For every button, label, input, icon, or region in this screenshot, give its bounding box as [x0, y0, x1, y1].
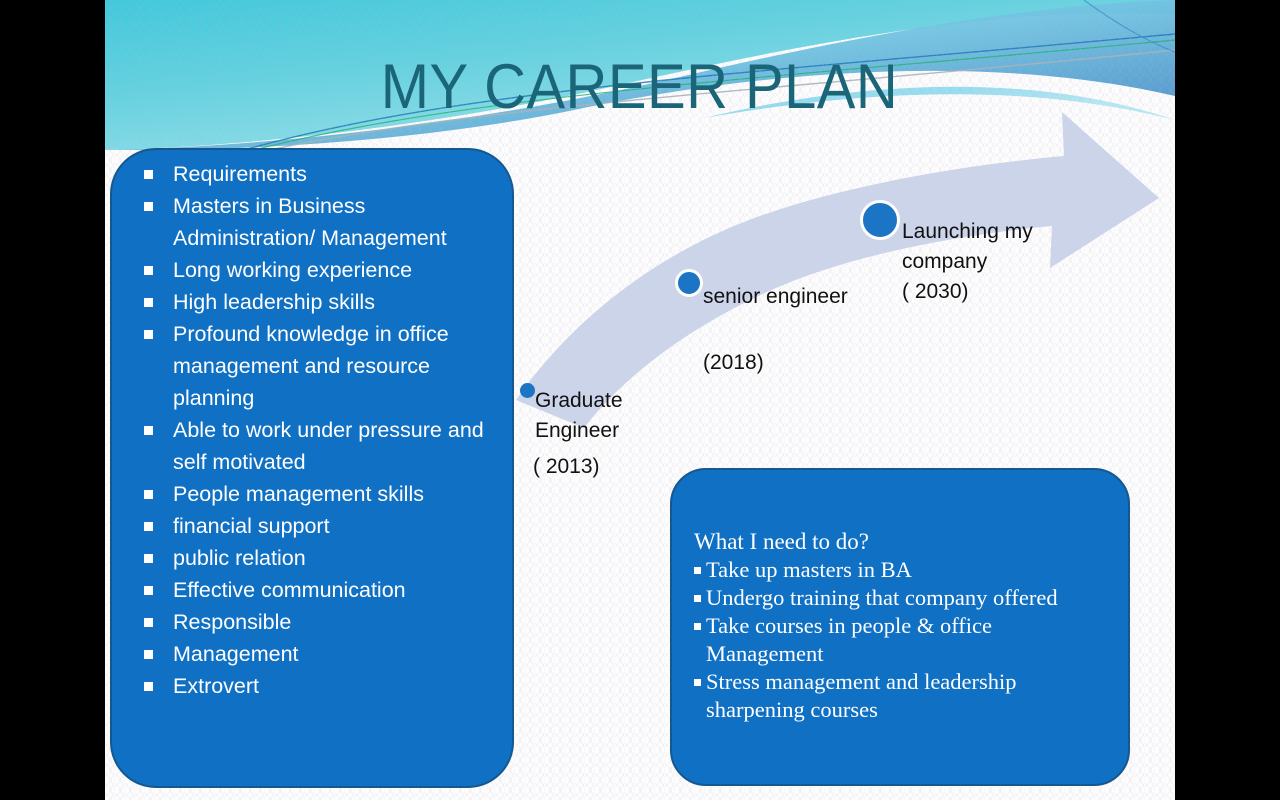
list-item-label: financial support — [173, 514, 330, 538]
list-item: Take courses in people & office Manageme… — [694, 612, 1114, 668]
milestone-dot-graduate — [520, 383, 535, 398]
bullet-square-icon — [144, 298, 153, 307]
list-item: Effective communication — [142, 574, 504, 606]
list-item-label: Requirements — [173, 162, 307, 186]
milestone-label-graduate: Graduate Engineer — [535, 386, 685, 446]
bullet-square-icon — [144, 618, 153, 627]
bullet-square-icon — [694, 623, 701, 630]
list-item: Masters in Business Administration/ Mana… — [142, 190, 504, 254]
list-item: Responsible — [142, 606, 504, 638]
milestone-year-launch: ( 2030) — [902, 277, 969, 307]
bullet-square-icon — [694, 679, 701, 686]
bullet-square-icon — [144, 202, 153, 211]
list-item: Requirements — [142, 158, 504, 190]
slide-canvas: MY CAREER PLAN Requirements Masters in B… — [104, 0, 1175, 800]
list-item-label: Take up masters in BA — [706, 557, 912, 582]
list-item: Undergo training that company offered — [694, 584, 1114, 612]
list-item-label: Undergo training that company offered — [706, 585, 1058, 610]
list-item: Extrovert — [142, 670, 504, 702]
letterbox-bar-right — [1175, 0, 1280, 800]
todo-content: What I need to do? Take up masters in BA… — [694, 528, 1114, 724]
list-item-label: Management — [173, 642, 299, 666]
milestone-year-graduate: ( 2013) — [533, 452, 600, 482]
todo-list: Take up masters in BA Undergo training t… — [694, 556, 1114, 724]
slide-stage: MY CAREER PLAN Requirements Masters in B… — [0, 0, 1280, 800]
list-item-label: High leadership skills — [173, 290, 375, 314]
list-item: public relation — [142, 542, 504, 574]
list-item-label: Extrovert — [173, 674, 259, 698]
milestone-year-senior: (2018) — [703, 348, 764, 378]
milestone-label-senior: senior engineer — [703, 282, 863, 312]
bullet-square-icon — [144, 330, 153, 339]
list-item: Management — [142, 638, 504, 670]
list-item: Profound knowledge in office management … — [142, 318, 504, 414]
list-item-label: Responsible — [173, 610, 291, 634]
list-item-label: Profound knowledge in office management … — [173, 322, 449, 410]
list-item-label: public relation — [173, 546, 306, 570]
bullet-square-icon — [144, 170, 153, 179]
bullet-square-icon — [694, 595, 701, 602]
bullet-square-icon — [694, 567, 701, 574]
list-item-label: Able to work under pressure and self mot… — [173, 418, 484, 474]
milestone-dot-launch — [860, 200, 900, 240]
requirements-list: Requirements Masters in Business Adminis… — [142, 158, 504, 702]
list-item-label: Masters in Business Administration/ Mana… — [173, 194, 447, 250]
bullet-square-icon — [144, 490, 153, 499]
list-item: People management skills — [142, 478, 504, 510]
milestone-dot-senior — [675, 269, 703, 297]
milestone-label-launch: Launching my company — [902, 217, 1092, 277]
bullet-square-icon — [144, 682, 153, 691]
list-item: Stress management and leadership sharpen… — [694, 668, 1114, 724]
bullet-square-icon — [144, 426, 153, 435]
bullet-square-icon — [144, 650, 153, 659]
list-item: financial support — [142, 510, 504, 542]
list-item-label: Effective communication — [173, 578, 406, 602]
list-item: Able to work under pressure and self mot… — [142, 414, 504, 478]
list-item-label: Take courses in people & office Manageme… — [706, 613, 992, 666]
todo-heading: What I need to do? — [694, 528, 1114, 556]
bullet-square-icon — [144, 266, 153, 275]
list-item: Long working experience — [142, 254, 504, 286]
bullet-square-icon — [144, 522, 153, 531]
list-item: High leadership skills — [142, 286, 504, 318]
list-item-label: Long working experience — [173, 258, 412, 282]
requirements-panel: Requirements Masters in Business Adminis… — [110, 148, 514, 788]
todo-panel: What I need to do? Take up masters in BA… — [670, 468, 1130, 786]
list-item: Take up masters in BA — [694, 556, 1114, 584]
list-item-label: Stress management and leadership sharpen… — [706, 669, 1017, 722]
list-item-label: People management skills — [173, 482, 424, 506]
letterbox-bar-left — [0, 0, 105, 800]
bullet-square-icon — [144, 554, 153, 563]
bullet-square-icon — [144, 586, 153, 595]
